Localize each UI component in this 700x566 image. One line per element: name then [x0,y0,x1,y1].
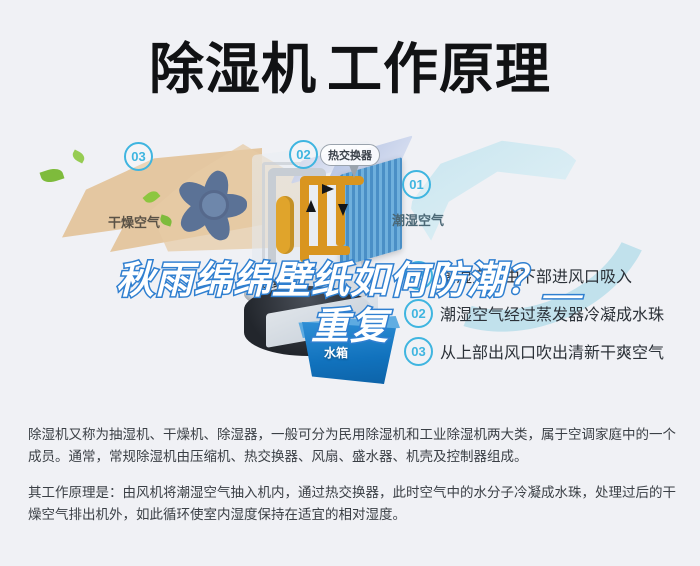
leaf-icon [40,166,65,185]
legend-label: 潮湿空气经过蒸发器冷凝成水珠 [440,301,664,325]
diagram-marker-02: 02 [289,140,318,169]
legend-list: 01 潮湿空气由下部进风口吸入 02 潮湿空气经过蒸发器冷凝成水珠 03 从上部… [404,256,696,370]
water-tank-label: 水箱 [324,344,348,361]
legend-number: 01 [404,261,433,290]
legend-item: 03 从上部出风口吹出清新干爽空气 [404,332,696,370]
infographic-page: 除湿机工作原理 干燥空气 [0,0,700,566]
page-title: 除湿机工作原理 [0,38,700,100]
fan-hub [199,190,229,220]
humid-air-label: 潮湿空气 [392,210,444,229]
legend-item: 02 潮湿空气经过蒸发器冷凝成水珠 [404,294,696,332]
leaf-icon [71,149,87,163]
page-title-part2: 工作原理 [327,38,551,100]
diagram-marker-03: 03 [124,142,153,171]
pipe-segment [268,170,276,266]
legend-label: 从上部出风口吹出清新干爽空气 [440,339,664,363]
flow-arrow-right-icon [322,184,334,194]
body-copy: 除湿机又称为抽湿机、干燥机、除湿器，一般可分为民用除湿机和工业除湿机两大类，属于… [28,424,676,526]
heat-exchanger-callout: 热交换器 [320,144,380,166]
compressor-label: 压缩机 [262,275,295,291]
legend-number: 03 [404,337,433,366]
legend-item: 01 潮湿空气由下部进风口吸入 [404,256,696,294]
body-paragraph-2: 其工作原理是：由风机将潮湿空气抽入机内，通过热交换器，此时空气中的水分子冷凝成水… [28,482,676,526]
copper-coil-segment [300,246,350,255]
compressor-cylinder [276,196,294,254]
body-paragraph-1: 除湿机又称为抽湿机、干燥机、除湿器，一般可分为民用除湿机和工业除湿机两大类，属于… [28,424,676,468]
flow-arrow-up-icon [306,200,316,212]
flow-arrow-down-icon [338,204,348,216]
page-title-part1: 除湿机 [149,38,317,100]
pipe-segment [268,168,326,176]
legend-label: 潮湿空气由下部进风口吸入 [440,263,632,287]
legend-number: 02 [404,299,433,328]
fan-icon [165,158,261,250]
diagram-marker-01: 01 [402,170,431,199]
dry-air-label: 干燥空气 [108,212,160,231]
